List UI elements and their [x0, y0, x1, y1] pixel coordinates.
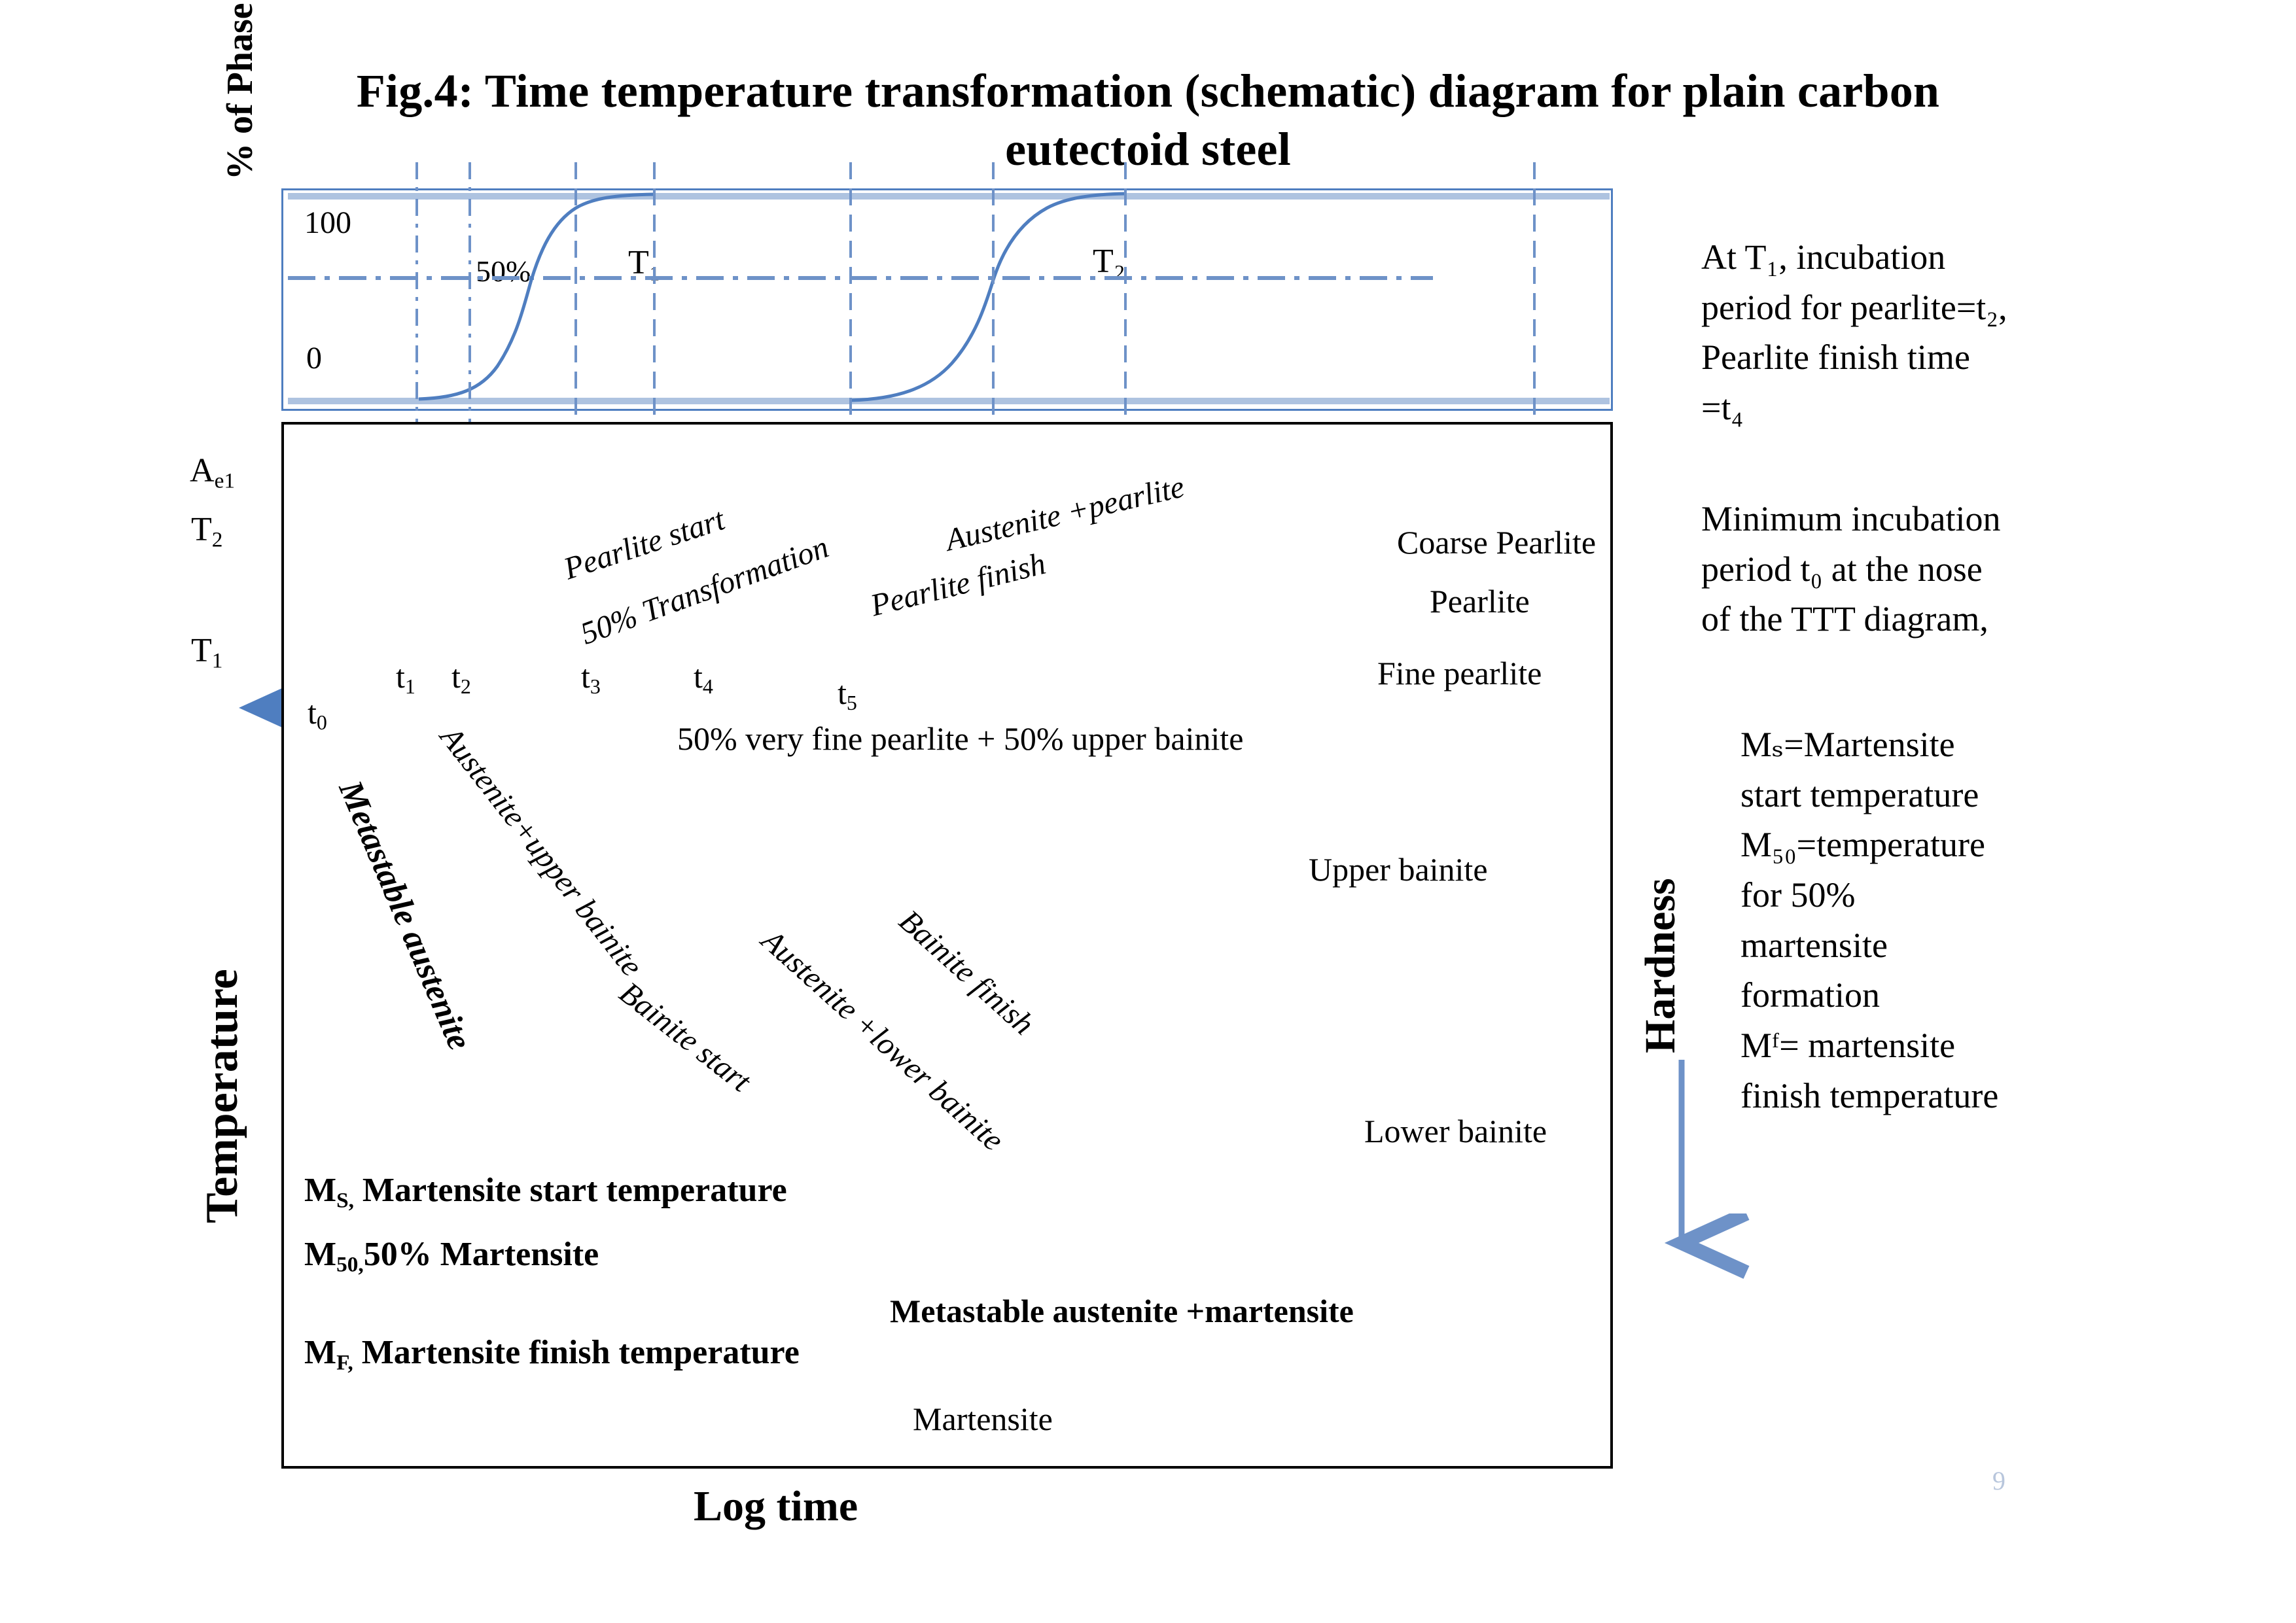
region-label-mixed-5050: 50% very fine pearlite + 50% upper baini… — [677, 720, 1243, 758]
note3-line-6: Mᶠ= martensite — [1740, 1021, 2159, 1071]
right-axis-title: Hardness — [1636, 700, 1682, 1053]
martensite-50-label: M50,50% Martensite — [304, 1235, 599, 1277]
temperature-tick-t1: T1 — [191, 631, 222, 673]
note3-line-7: finish temperature — [1740, 1071, 2159, 1121]
martensite-finish-label: MF, Martensite finish temperature — [304, 1333, 800, 1375]
note1-line-1: period for pearlite=t₂, — [1701, 283, 2133, 333]
note3-line-0: Mₛ=Martensite — [1740, 720, 2159, 770]
x-axis-title: Log time — [694, 1482, 858, 1531]
note-block-2: Minimum incubation period t₀ at the nose… — [1701, 494, 2146, 644]
note3-line-3: for 50% — [1740, 870, 2159, 920]
time-tick-t1: t1 — [396, 657, 415, 699]
region-label-pearlite: Pearlite — [1430, 582, 1530, 620]
page-number: 9 — [1992, 1465, 2005, 1496]
time-tick-t4: t4 — [694, 657, 713, 699]
region-label-upper-bainite: Upper bainite — [1309, 850, 1488, 888]
time-tick-t5: t5 — [838, 674, 857, 715]
note2-line-1: period t₀ at the nose — [1701, 544, 2146, 595]
martensite-50-text: 50% Martensite — [364, 1236, 599, 1273]
note2-line-0: Minimum incubation — [1701, 494, 2146, 544]
note3-line-2: M₅₀=temperature — [1740, 820, 2159, 870]
time-tick-t0: t0 — [308, 693, 327, 735]
note3-line-1: start temperature — [1740, 770, 2159, 820]
note3-line-4: martensite — [1740, 920, 2159, 971]
region-label-martensite: Martensite — [913, 1400, 1053, 1438]
note2-line-2: of the TTT diagram, — [1701, 594, 2146, 644]
region-label-fine-pearlite: Fine pearlite — [1377, 654, 1542, 692]
note3-line-5: formation — [1740, 970, 2159, 1021]
note-block-3: Mₛ=Martensite start temperature M₅₀=temp… — [1740, 720, 2159, 1121]
sigmoid-curve-t2 — [851, 194, 1125, 400]
sigmoid-curve-t1 — [419, 194, 654, 399]
martensite-start-label: MS, Martensite start temperature — [304, 1171, 787, 1213]
note1-line-2: Pearlite finish time — [1701, 332, 2133, 383]
martensite-start-text: Martensite start temperature — [354, 1172, 787, 1209]
temperature-tick-t2: T2 — [191, 510, 222, 552]
note1-line-0: At T₁, incubation — [1701, 232, 2133, 283]
region-label-coarse-pearlite: Coarse Pearlite — [1397, 523, 1596, 561]
time-tick-t3: t3 — [581, 657, 601, 699]
y-axis-title: Temperature — [196, 805, 242, 1223]
temperature-tick-ae1: Ae1 — [190, 451, 235, 493]
region-label-metastable-austenite-martensite: Metastable austenite +martensite — [890, 1292, 1354, 1330]
time-tick-t2: t2 — [451, 657, 471, 699]
martensite-finish-text: Martensite finish temperature — [353, 1334, 800, 1371]
region-label-lower-bainite: Lower bainite — [1364, 1112, 1547, 1150]
note-block-1: At T₁, incubation period for pearlite=t₂… — [1701, 232, 2133, 433]
note1-line-3: =t₄ — [1701, 383, 2133, 433]
